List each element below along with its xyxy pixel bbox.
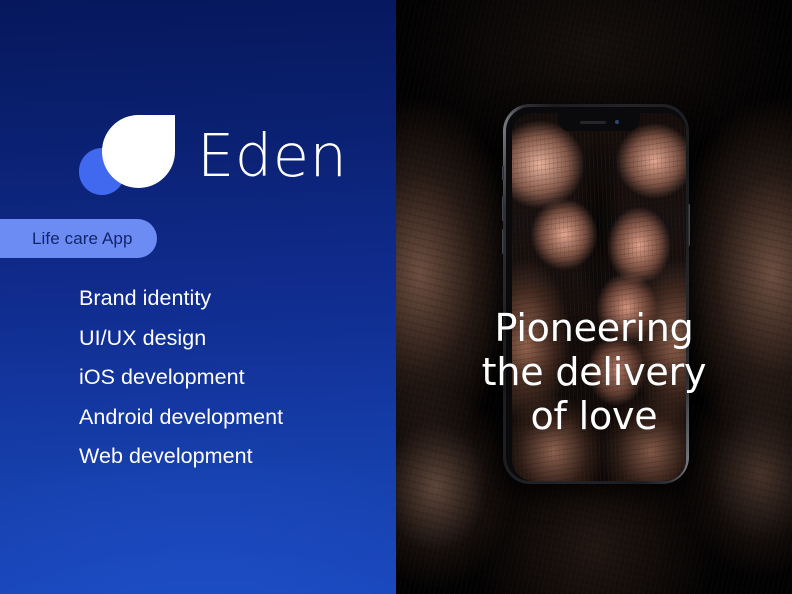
- brand-wordmark: Eden: [197, 126, 347, 185]
- eden-droplet-logo-icon: [79, 115, 175, 195]
- speaker-grille-icon: [580, 121, 606, 124]
- left-brand-panel: Eden Life care App Brand identity UI/UX …: [0, 0, 396, 594]
- right-media-panel: Pioneering the delivery of love: [396, 0, 792, 594]
- page-title: Pioneering the delivery of love: [396, 306, 792, 438]
- list-item: Web development: [79, 437, 283, 477]
- list-item: Brand identity: [79, 279, 283, 319]
- services-list: Brand identity UI/UX design iOS developm…: [79, 279, 283, 477]
- headline-line-1: Pioneering: [396, 306, 792, 350]
- status-badge: Life care App: [0, 219, 157, 258]
- front-camera-icon: [615, 120, 619, 124]
- logo-droplet-white-icon: [102, 115, 175, 188]
- list-item: UI/UX design: [79, 319, 283, 359]
- phone-notch: [558, 113, 640, 131]
- headline-line-3: of love: [396, 394, 792, 438]
- list-item: Android development: [79, 398, 283, 438]
- volume-down-button: [502, 229, 504, 254]
- power-button: [688, 204, 690, 246]
- volume-up-button: [502, 196, 504, 221]
- brand-lockup: Eden: [79, 115, 347, 195]
- headline-line-2: the delivery: [396, 350, 792, 394]
- mute-switch: [502, 166, 504, 180]
- presentation-slide: Eden Life care App Brand identity UI/UX …: [0, 0, 792, 594]
- status-badge-label: Life care App: [32, 229, 133, 249]
- list-item: iOS development: [79, 358, 283, 398]
